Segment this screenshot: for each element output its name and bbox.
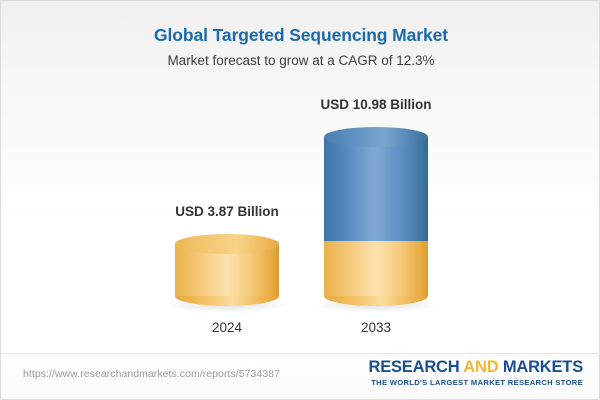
research-and-markets-logo[interactable]: RESEARCH AND MARKETS THE WORLD'S LARGEST…: [368, 358, 583, 388]
category-label-2033: 2033: [324, 320, 428, 335]
footer: https://www.researchandmarkets.com/repor…: [1, 354, 600, 400]
bar-cylinder-2024[interactable]: [175, 234, 279, 306]
bar-segment-base-2033: [324, 239, 428, 296]
source-url[interactable]: https://www.researchandmarkets.com/repor…: [23, 368, 280, 380]
bar-segment-growth-2033: [324, 137, 428, 241]
logo-word-and: AND: [463, 358, 498, 376]
chart-card: Global Targeted Sequencing Market Market…: [0, 0, 600, 400]
logo-wordmark: RESEARCH AND MARKETS: [368, 358, 583, 377]
bar-cylinder-top-2033: [324, 127, 428, 147]
logo-word-markets: MARKETS: [503, 358, 583, 376]
bar-value-label-2024: USD 3.87 Billion: [112, 204, 342, 219]
bar-cylinder-2033[interactable]: [324, 127, 428, 306]
bar-cylinder-top-2024: [175, 234, 279, 254]
category-label-2024: 2024: [175, 320, 279, 335]
logo-word-research: RESEARCH: [368, 358, 459, 376]
logo-tagline: THE WORLD'S LARGEST MARKET RESEARCH STOR…: [368, 377, 583, 388]
chart-plot-area: USD 3.87 Billion 2024 USD 10.98 Billion: [1, 1, 600, 353]
bar-value-label-2033: USD 10.98 Billion: [261, 97, 491, 112]
